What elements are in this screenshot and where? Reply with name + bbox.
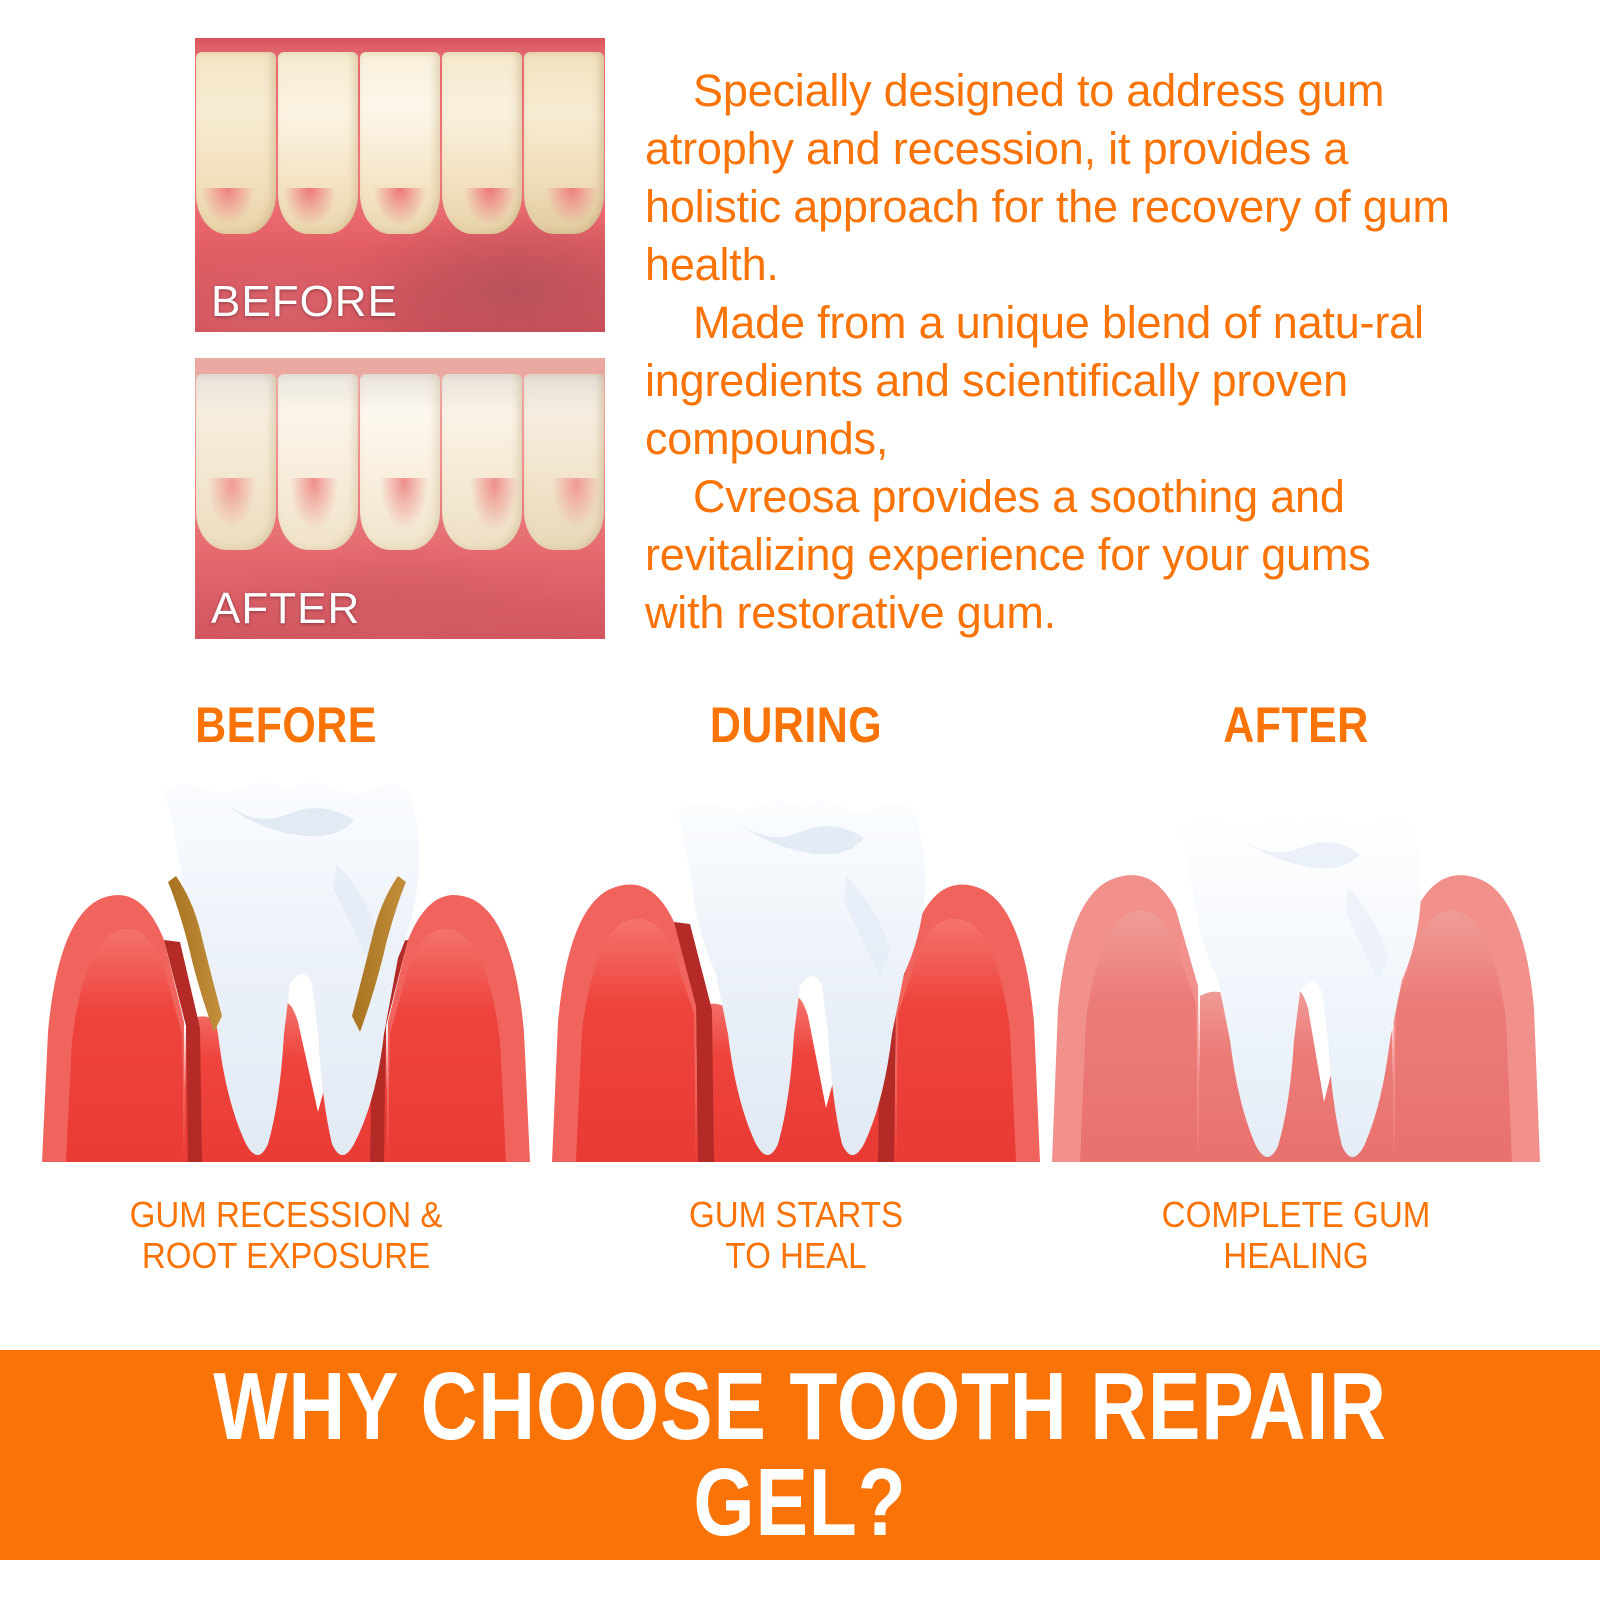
stage-before-caption: GUM RECESSION & ROOT EXPOSURE (56, 1194, 516, 1276)
stage-after-illustration (1046, 772, 1546, 1172)
stage-during-title: DURING (581, 700, 1011, 750)
stage-before-title: BEFORE (71, 700, 501, 750)
stage-after: AFTER COMPLE (1046, 700, 1546, 1276)
photo-after-papillae (195, 478, 605, 570)
photo-before-papillae (195, 188, 605, 252)
cta-banner: WHY CHOOSE TOOTH REPAIR GEL? (0, 1350, 1600, 1560)
stage-before: BEFORE (36, 700, 536, 1276)
clinical-photo-before: BEFORE (195, 38, 605, 332)
stage-during-caption: GUM STARTS TO HEAL (566, 1194, 1026, 1276)
clinical-photo-after: AFTER (195, 358, 605, 639)
product-description: Specially designed to address gum atroph… (645, 62, 1455, 642)
banner-headline: WHY CHOOSE TOOTH REPAIR GEL? (144, 1359, 1456, 1551)
poster-canvas: BEFORE AFTER Specially designed to addre… (0, 0, 1600, 1600)
stage-after-caption: COMPLETE GUM HEALING (1066, 1194, 1526, 1276)
stage-after-title: AFTER (1081, 700, 1511, 750)
description-paragraph-2: Made from a unique blend of natu-ral ing… (645, 294, 1455, 468)
stage-before-illustration (36, 772, 536, 1172)
stage-during-illustration (546, 772, 1046, 1172)
description-paragraph-1: Specially designed to address gum atroph… (645, 62, 1455, 294)
stage-during: DURING (546, 700, 1046, 1276)
photo-after-label: AFTER (211, 587, 360, 631)
photo-before-label: BEFORE (211, 280, 398, 324)
description-paragraph-3: Cvreosa provides a soothing and revitali… (645, 468, 1455, 642)
